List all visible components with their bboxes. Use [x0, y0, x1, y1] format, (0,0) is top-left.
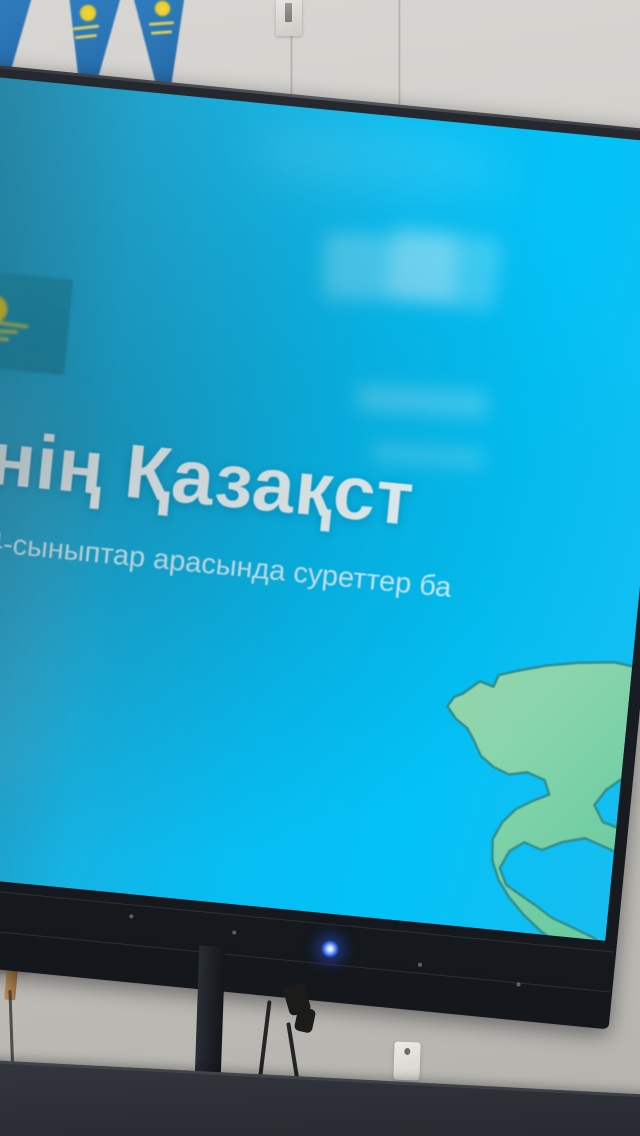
display-bezel: Менің Қазақст 4-сыныптар арасында суретт…	[0, 60, 640, 1029]
wall-outlet[interactable]	[393, 1042, 420, 1081]
light-reflection	[246, 112, 512, 207]
power-led[interactable]	[320, 939, 340, 959]
light-switch[interactable]	[276, 0, 302, 36]
light-reflection	[385, 224, 503, 311]
bezel-sensor-dot	[129, 914, 133, 918]
pennant-sun-icon	[79, 4, 97, 22]
bezel-sensor-dot	[516, 982, 520, 986]
screenshot-root: Менің Қазақст 4-сыныптар арасында суретт…	[0, 0, 640, 1136]
wall-seam	[398, 0, 401, 120]
flag-eagle-icon	[0, 315, 29, 344]
interactive-display[interactable]: Менің Қазақст 4-сыныптар арасында суретт…	[0, 60, 640, 1029]
light-reflection	[356, 384, 487, 418]
display-screen[interactable]: Менің Қазақст 4-сыныптар арасында суретт…	[0, 73, 640, 941]
light-reflection	[323, 233, 457, 303]
slide-kazakhstan-flag-icon	[0, 267, 73, 375]
bezel-sensor-dot	[418, 963, 422, 967]
slide-kazakhstan-map	[341, 627, 640, 941]
pennant-sun-icon	[154, 0, 171, 17]
bezel-sensor-dot	[232, 930, 236, 934]
